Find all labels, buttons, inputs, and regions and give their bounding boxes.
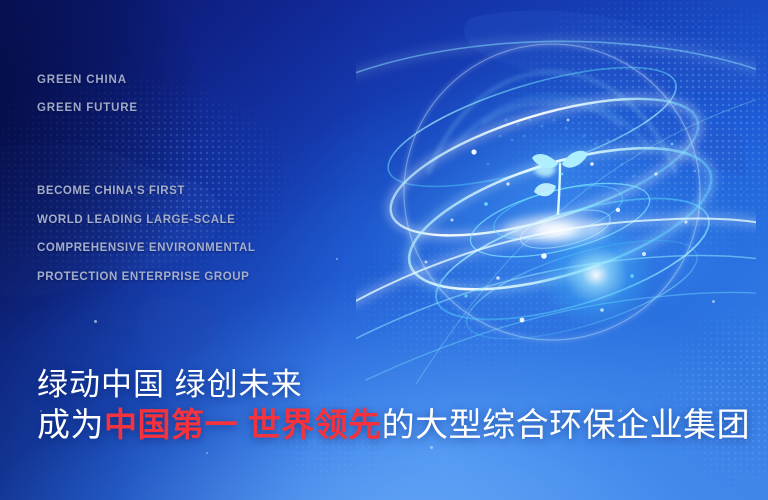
globe-icon bbox=[356, 24, 756, 384]
tagline-line-1: GREEN CHINA bbox=[37, 66, 255, 94]
statement-line-3: COMPREHENSIVE ENVIRONMENTAL bbox=[37, 234, 255, 263]
statement-line-4: PROTECTION ENTERPRISE GROUP bbox=[37, 263, 255, 292]
headline-highlight: 中国第一 世界领先 bbox=[104, 406, 382, 443]
headline-suffix: 的大型综合环保企业集团 bbox=[382, 406, 751, 443]
chinese-headline: 绿动中国 绿创未来 成为中国第一 世界领先的大型综合环保企业集团 bbox=[37, 366, 750, 447]
hero-banner: GREEN CHINA GREEN FUTURE BECOME CHINA'S … bbox=[0, 0, 768, 500]
tagline-line-2: GREEN FUTURE bbox=[37, 94, 255, 122]
statement-line-2: WORLD LEADING LARGE-SCALE bbox=[37, 206, 255, 235]
headline-line-1: 绿动中国 绿创未来 bbox=[37, 366, 750, 403]
statement-line-1: BECOME CHINA'S FIRST bbox=[37, 177, 255, 206]
headline-prefix: 成为 bbox=[37, 406, 104, 443]
headline-line-2: 成为中国第一 世界领先的大型综合环保企业集团 bbox=[37, 403, 750, 447]
english-statement-block: BECOME CHINA'S FIRST WORLD LEADING LARGE… bbox=[37, 177, 255, 291]
tagline-text-stack: GREEN CHINA GREEN FUTURE BECOME CHINA'S … bbox=[37, 66, 255, 291]
english-tagline-block: GREEN CHINA GREEN FUTURE bbox=[37, 66, 255, 122]
